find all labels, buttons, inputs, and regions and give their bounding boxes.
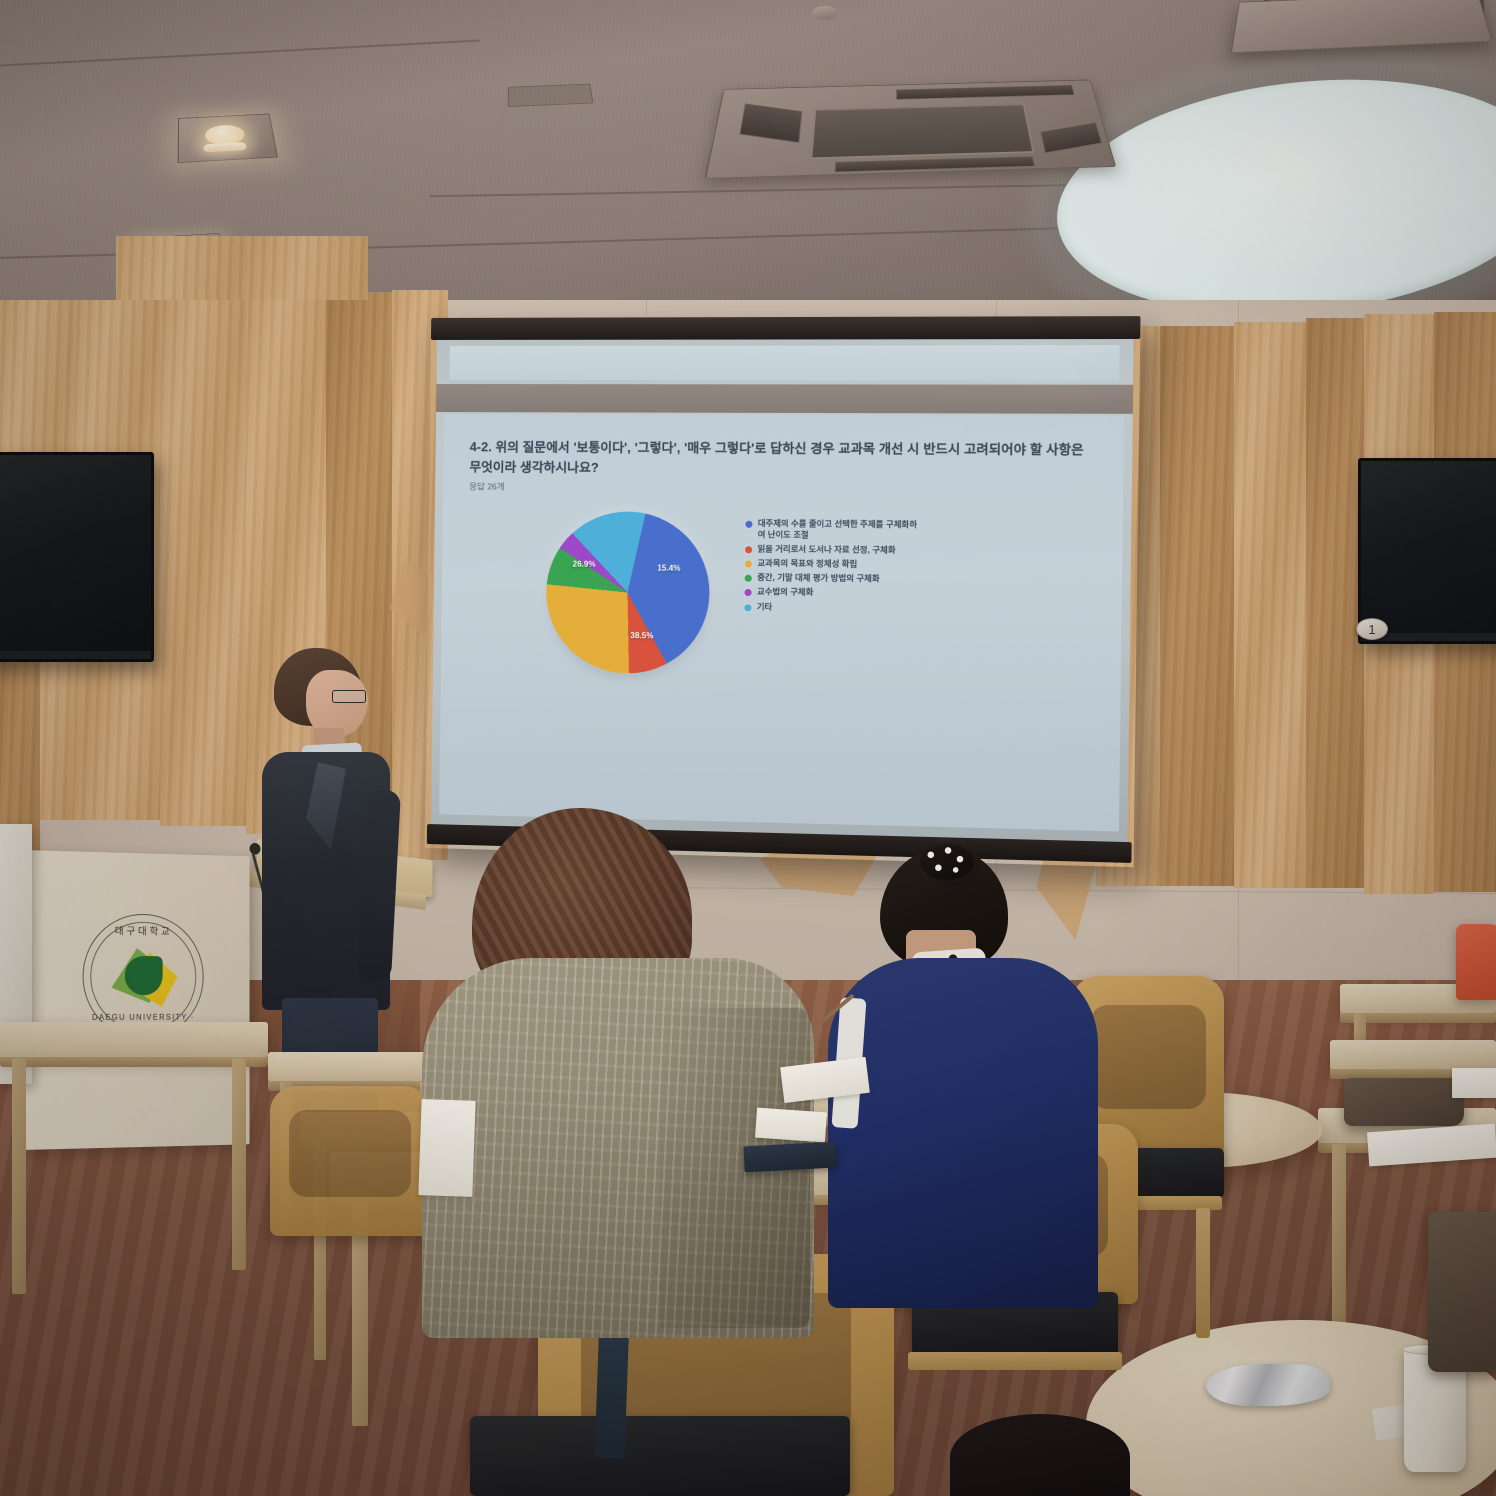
- legend-item-label: 교과목의 목표와 정체성 확립: [757, 559, 857, 571]
- logo-dark-green-shape: [125, 956, 163, 995]
- table-edge: [0, 1057, 268, 1067]
- table-back-right-2: [1330, 1040, 1496, 1070]
- legend-item: 중간, 기말 대체 평가 방법의 구체화: [745, 573, 1094, 588]
- presenter-glasses: [332, 690, 366, 703]
- projected-slide: 4-2. 위의 질문에서 '보통이다', '그렇다', '매우 그렇다'로 답하…: [431, 339, 1134, 842]
- audience-member-plaid: [410, 808, 820, 1328]
- legend-item: 교과목의 목표와 정체성 확립: [745, 558, 1094, 573]
- table-leg: [12, 1058, 26, 1294]
- legend-color-dot: [745, 546, 752, 553]
- wall-monitor-left: [0, 452, 154, 662]
- pie-slice-percent: 38.5%: [630, 631, 653, 640]
- wood-wall-panel: [1160, 326, 1234, 886]
- lecture-room-photo: 1 4-2. 위의 질문에서 '보통이다', '그렇다', '매우 그렇다'로 …: [0, 0, 1496, 1496]
- ac-vane: [739, 103, 802, 143]
- logo-korean-text: 대구대학교: [84, 922, 203, 938]
- chair-backrest-opening: [289, 1110, 411, 1197]
- wood-wall-panel: [160, 296, 246, 826]
- survey-question: 4-2. 위의 질문에서 '보통이다', '그렇다', '매우 그렇다'로 답하…: [469, 438, 1096, 481]
- audience-member-navy: [828, 848, 1118, 1308]
- handbag: [1344, 1078, 1464, 1126]
- pie-slice-percent: 26.9%: [573, 560, 596, 569]
- chair-backrest: [270, 1086, 430, 1236]
- legend-item: 교수법의 구체화: [744, 587, 1093, 602]
- slide-band-gap: [436, 384, 1133, 414]
- chair-leg: [1196, 1208, 1210, 1338]
- pie-chart-graphic: [545, 511, 710, 675]
- legend-item: 읽을 거리로서 도서나 자료 선정, 구체화: [745, 544, 1094, 559]
- red-chair: [1456, 924, 1496, 1000]
- legend-item-label: 교수법의 구체화: [757, 587, 814, 599]
- table-back-left: [0, 1022, 268, 1058]
- legend-color-dot: [745, 521, 752, 528]
- spotlight-tube: [203, 142, 247, 152]
- ac-vane: [1040, 122, 1102, 153]
- legend-item: 기타: [744, 602, 1093, 618]
- wood-wall-panel: [1306, 318, 1364, 888]
- projection-screen: 4-2. 위의 질문에서 '보통이다', '그렇다', '매우 그렇다'로 답하…: [425, 316, 1141, 867]
- daegu-university-logo: 대구대학교 DAEGU UNIVERSITY · 1956: [83, 913, 204, 1040]
- presenter: [258, 640, 418, 1070]
- legend-color-dot: [745, 575, 752, 582]
- lectern-body: 대구대학교 DAEGU UNIVERSITY · 1956: [22, 850, 250, 1150]
- ac-vane: [896, 85, 1075, 100]
- legend-item-label: 기타: [757, 602, 773, 613]
- paper-sheet: [755, 1108, 827, 1143]
- wood-wall-panel: [1234, 322, 1306, 888]
- wall-monitor-right: [1358, 458, 1496, 644]
- ceiling-spotlight: [178, 113, 278, 163]
- legend-item-label: 대주제의 수를 줄이고 선택한 주제를 구체화하여 난이도 조절: [758, 519, 923, 542]
- smoke-detector: [812, 6, 838, 20]
- chart-legend: 대주제의 수를 줄이고 선택한 주제를 구체화하여 난이도 조절읽을 거리로서 …: [744, 519, 1095, 621]
- chair-rail: [908, 1352, 1122, 1370]
- response-count: 응답 26개: [469, 480, 1095, 496]
- ac-vane: [835, 156, 1035, 172]
- foreground-person-head: [950, 1414, 1130, 1496]
- table-leg: [1332, 1144, 1346, 1334]
- table-leg: [232, 1058, 246, 1270]
- pie-slice-percent: 15.4%: [657, 564, 680, 573]
- paper-sheet: [1452, 1068, 1496, 1098]
- audience-2-navy-blazer: [828, 958, 1098, 1308]
- room-number-plaque: 1: [1356, 618, 1388, 640]
- slide-content: 4-2. 위의 질문에서 '보통이다', '그렇다', '매우 그렇다'로 답하…: [439, 414, 1124, 831]
- pie-chart: 38.5%26.9%15.4%: [545, 511, 710, 675]
- presenter-face: [306, 670, 368, 736]
- notebook: [743, 1142, 836, 1173]
- ac-center-grille: [810, 104, 1034, 159]
- audience-2-hair-clip: [920, 844, 974, 880]
- monitor-bezel: [0, 651, 151, 659]
- chair-left: [270, 1086, 430, 1236]
- paper-stack: [418, 1099, 475, 1197]
- legend-color-dot: [744, 604, 751, 611]
- bag-on-chair: [1428, 1212, 1496, 1372]
- wood-wall-panel: [116, 236, 368, 300]
- legend-color-dot: [744, 589, 751, 596]
- legend-item: 대주제의 수를 줄이고 선택한 주제를 구체화하여 난이도 조절: [745, 519, 1095, 544]
- legend-item-label: 읽을 거리로서 도서나 자료 선정, 구체화: [757, 544, 895, 556]
- ceiling-ac-unit: [705, 80, 1116, 179]
- screen-roller-case: [431, 316, 1141, 340]
- chart-area: 38.5%26.9%15.4% 대주제의 수를 줄이고 선택한 주제를 구체화하…: [467, 510, 1095, 681]
- ceiling-vent: [508, 84, 594, 107]
- legend-item-label: 중간, 기말 대체 평가 방법의 구체화: [757, 573, 880, 585]
- slide-top-band: [450, 345, 1119, 380]
- room-number-label: 1: [1368, 622, 1375, 637]
- chair-seat-foreground: [470, 1416, 850, 1496]
- legend-color-dot: [745, 560, 752, 567]
- foil-wrapper: [1206, 1364, 1330, 1406]
- screen-surface: 4-2. 위의 질문에서 '보통이다', '그렇다', '매우 그렇다'로 답하…: [431, 339, 1134, 842]
- logo-emblem: [110, 942, 178, 1011]
